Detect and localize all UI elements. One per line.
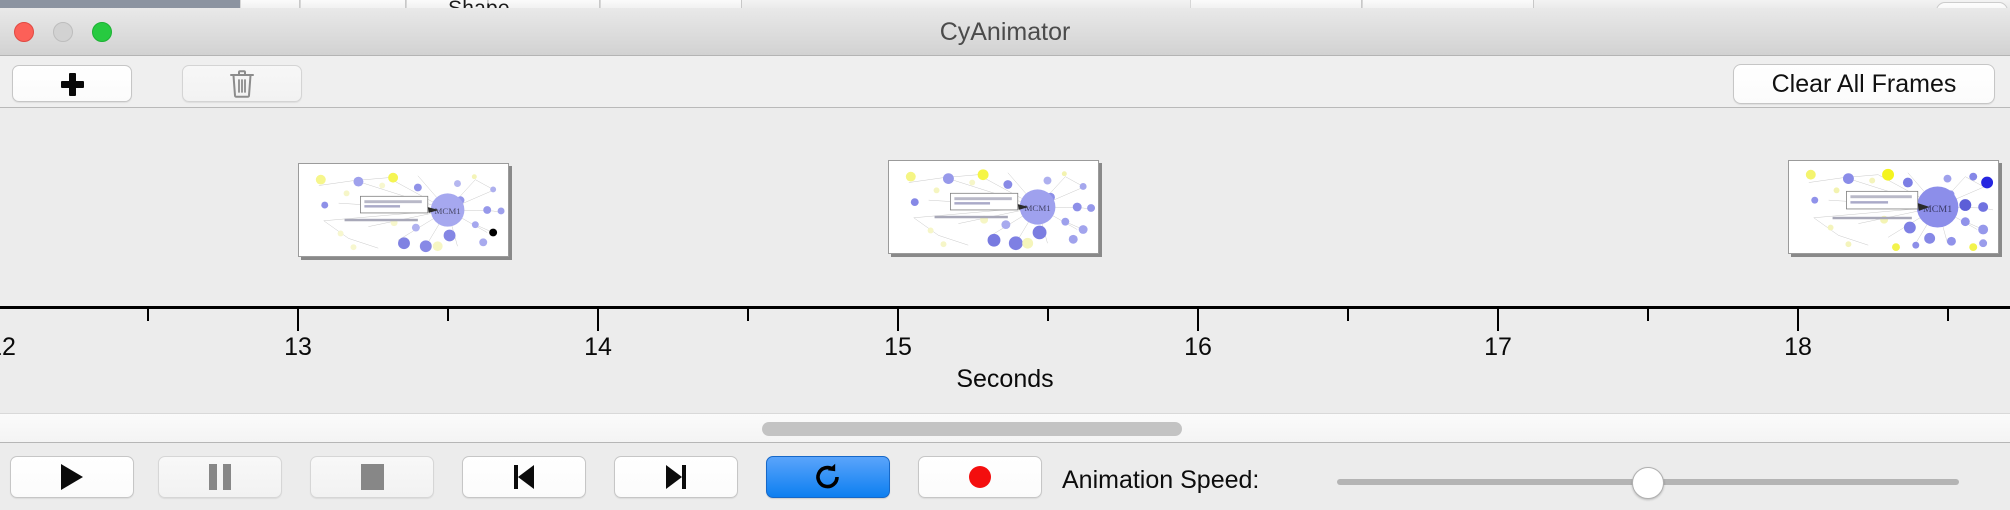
stop-icon <box>361 464 384 490</box>
title-bar: CyAnimator <box>0 8 2010 56</box>
axis-tick-major <box>597 309 599 331</box>
axis-tick-major <box>897 309 899 331</box>
timeline-frame-thumbnail[interactable]: MCM1 <box>298 163 509 257</box>
axis-tick-major <box>1197 309 1199 331</box>
plus-icon <box>60 72 84 96</box>
axis-tick-minor <box>1347 309 1349 321</box>
loop-button[interactable] <box>766 456 890 498</box>
delete-frame-button[interactable] <box>182 65 302 102</box>
axis-tick-label: 13 <box>284 333 312 362</box>
axis-tick-minor <box>747 309 749 321</box>
trash-icon <box>229 69 255 99</box>
pause-icon <box>209 464 231 490</box>
axis-tick-label: 18 <box>1784 333 1812 362</box>
axis-tick-label: 15 <box>884 333 912 362</box>
window-title: CyAnimator <box>0 8 2010 56</box>
svg-text:MCM1: MCM1 <box>434 206 460 216</box>
play-button[interactable] <box>10 456 134 498</box>
record-icon <box>967 464 993 490</box>
pause-button[interactable] <box>158 456 282 498</box>
clear-all-frames-button[interactable]: Clear All Frames <box>1733 64 1995 104</box>
record-button[interactable] <box>918 456 1042 498</box>
timeline-axis-line <box>0 306 2010 309</box>
timeline-frame-thumbnail[interactable]: MCM1 <box>888 160 1099 254</box>
loop-icon <box>813 462 843 492</box>
next-frame-button[interactable] <box>614 456 738 498</box>
axis-tick-minor <box>147 309 149 321</box>
axis-tick-major <box>1797 309 1799 331</box>
previous-frame-button[interactable] <box>462 456 586 498</box>
axis-tick-label: 14 <box>584 333 612 362</box>
play-icon <box>61 464 83 490</box>
stop-button[interactable] <box>310 456 434 498</box>
svg-text:MCM1: MCM1 <box>1923 204 1952 215</box>
axis-tick-major <box>297 309 299 331</box>
svg-text:MCM1: MCM1 <box>1024 203 1050 213</box>
axis-tick-label: 16 <box>1184 333 1212 362</box>
animation-speed-label: Animation Speed: <box>1062 466 1259 495</box>
axis-title: Seconds <box>0 365 2010 394</box>
axis-tick-minor <box>1047 309 1049 321</box>
axis-tick-label: 12 <box>0 333 16 362</box>
timeline-scrollbar[interactable] <box>0 413 2010 443</box>
axis-tick-minor <box>1647 309 1649 321</box>
scrollbar-thumb[interactable] <box>762 422 1182 436</box>
cyanimator-window: Shape CyAnimator Clear All Frames <box>0 0 2010 510</box>
axis-tick-minor <box>447 309 449 321</box>
axis-tick-minor <box>1947 309 1949 321</box>
frame-toolbar: Clear All Frames <box>0 56 2010 108</box>
skip-forward-icon <box>661 463 691 491</box>
add-frame-button[interactable] <box>12 65 132 102</box>
playback-toolbar: Animation Speed: <box>0 444 2010 510</box>
animation-speed-slider-thumb[interactable] <box>1632 467 1664 499</box>
axis-tick-major <box>1497 309 1499 331</box>
timeline-frame-thumbnail[interactable]: MCM1 <box>1788 160 1999 254</box>
skip-back-icon <box>509 463 539 491</box>
axis-tick-label: 17 <box>1484 333 1512 362</box>
timeline-panel[interactable]: MCM1 <box>0 108 2010 413</box>
